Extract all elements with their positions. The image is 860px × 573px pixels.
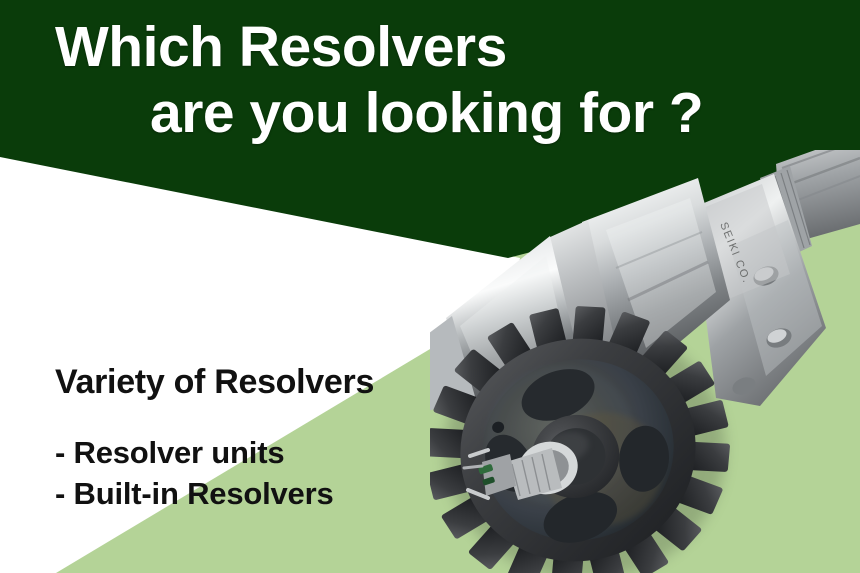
bullet-item-built-in-resolvers: - Built-in Resolvers bbox=[55, 473, 374, 514]
content-block: Variety of Resolvers - Resolver units - … bbox=[55, 362, 374, 514]
bullet-item-resolver-units: - Resolver units bbox=[55, 432, 374, 473]
promo-banner: SEIKI CO. bbox=[0, 0, 860, 573]
subheading: Variety of Resolvers bbox=[55, 362, 374, 402]
